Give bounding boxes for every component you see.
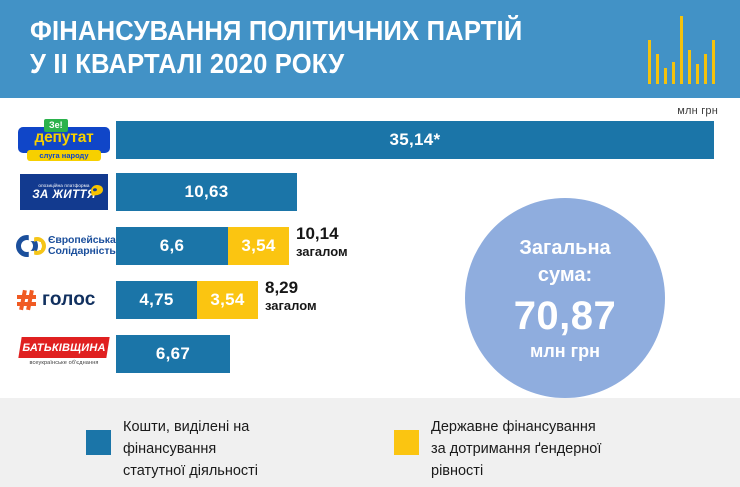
party-logo-evropeyska-solidarnist: Європейська Солідарність xyxy=(16,224,112,268)
logo-text-za-zhyttya: ЗА ЖИТТЯ xyxy=(32,189,95,202)
bar-total-label-es: 10,14 загалом xyxy=(296,225,348,261)
legend-item-statutory: Кошти, виділені на фінансування статутно… xyxy=(86,416,258,482)
bar-opzzh: 10,63 xyxy=(116,173,297,211)
legend-swatch-blue xyxy=(86,430,111,455)
bar-total-label-golos: 8,29 загалом xyxy=(265,279,317,315)
grand-total-unit: млн грн xyxy=(530,340,600,362)
logo-text-es: Європейська Солідарність xyxy=(48,235,116,258)
bar-segment-statutory: 35,14* xyxy=(116,121,714,159)
legend-item-gender: Державне фінансування за дотримання ґенд… xyxy=(394,416,601,482)
infographic-root: ФІНАНСУВАННЯ ПОЛІТИЧНИХ ПАРТІЙ У ІІ КВАР… xyxy=(0,0,740,487)
bar-total-word: загалом xyxy=(296,243,348,261)
bar-total-value: 8,29 xyxy=(265,279,317,297)
logo-text-batkivshchyna: БАТЬКІВЩИНА xyxy=(20,340,108,356)
bar-total-word: загалом xyxy=(265,297,317,315)
bar-segment-statutory: 10,63 xyxy=(116,173,297,211)
legend: Кошти, виділені на фінансування статутно… xyxy=(0,398,740,487)
grand-total-value: 70,87 xyxy=(514,292,617,340)
logo-text-vseukrainske: всеукраїнське об'єднання xyxy=(16,359,112,367)
equalizer-bars-icon xyxy=(646,16,718,84)
es-monogram-icon xyxy=(16,235,46,257)
legend-label-statutory: Кошти, виділені на фінансування статутно… xyxy=(123,416,258,482)
party-logo-opzzh: опозиційна платформа ЗА ЖИТТЯ xyxy=(16,170,112,214)
grand-total-circle: Загальна сума: 70,87 млн грн xyxy=(465,198,665,398)
logo-text-es-line2: Солідарність xyxy=(48,246,116,258)
party-logo-sluga-narodu: Зе! депутат слуга народу xyxy=(16,118,112,162)
bar-total-value: 10,14 xyxy=(296,225,348,243)
logo-text-golos: голос xyxy=(42,289,96,311)
legend-label-gender: Державне фінансування за дотримання ґенд… xyxy=(431,416,601,482)
bar-golos: 4,75 3,54 xyxy=(116,281,258,319)
bar-batkivshchyna: 6,67 xyxy=(116,335,230,373)
chart-row-sluga-narodu: Зе! депутат слуга народу 35,14* xyxy=(0,118,740,162)
legend-swatch-yellow xyxy=(394,430,419,455)
logo-text-deputat: депутат xyxy=(18,129,110,146)
bar-segment-gender: 3,54 xyxy=(197,281,258,319)
logo-text-sluga-narodu: слуга народу xyxy=(27,150,101,162)
party-logo-batkivshchyna: БАТЬКІВЩИНА всеукраїнське об'єднання xyxy=(16,332,112,376)
bar-segment-statutory: 6,6 xyxy=(116,227,228,265)
chart-area: млн грн Зе! депутат слуга народу 35,14* … xyxy=(0,98,740,398)
bar-segment-statutory: 6,67 xyxy=(116,335,230,373)
chart-row-opzzh: опозиційна платформа ЗА ЖИТТЯ 10,63 xyxy=(0,170,740,214)
bird-icon xyxy=(90,184,103,196)
bar-es: 6,6 3,54 xyxy=(116,227,289,265)
header-banner: ФІНАНСУВАННЯ ПОЛІТИЧНИХ ПАРТІЙ У ІІ КВАР… xyxy=(0,0,740,98)
page-title: ФІНАНСУВАННЯ ПОЛІТИЧНИХ ПАРТІЙ У ІІ КВАР… xyxy=(30,14,588,80)
grand-total-label: Загальна сума: xyxy=(519,235,610,289)
hashtag-icon xyxy=(16,289,38,311)
party-logo-golos: голос xyxy=(16,278,112,322)
bar-segment-gender: 3,54 xyxy=(228,227,289,265)
bar-segment-statutory: 4,75 xyxy=(116,281,197,319)
unit-label: млн грн xyxy=(677,105,718,117)
bar-sluga-narodu: 35,14* xyxy=(116,121,714,159)
